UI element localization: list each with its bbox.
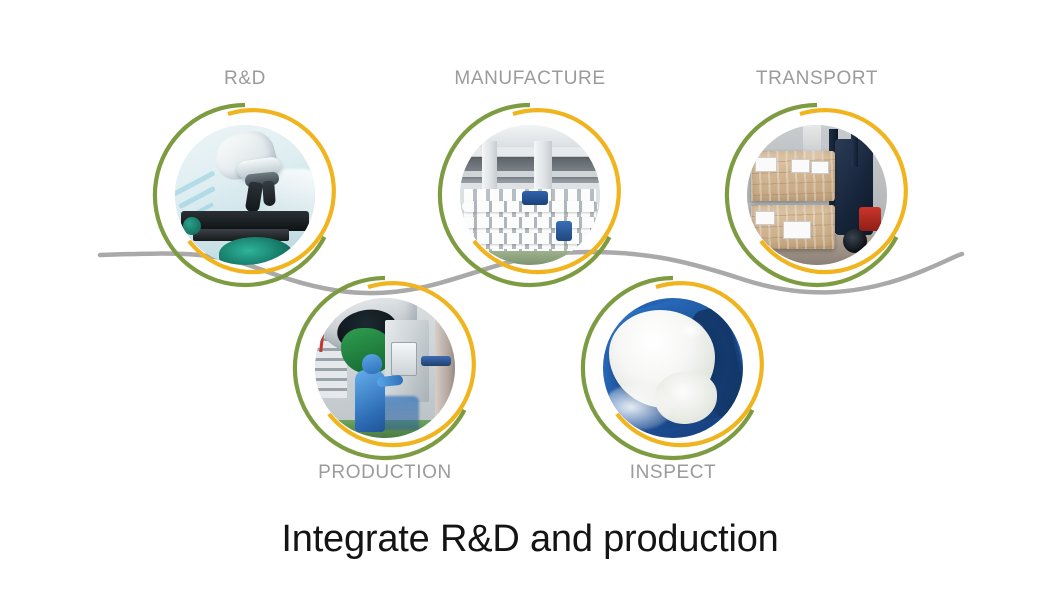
rd-ring-arcs [150,100,340,290]
flow-node-manufacture-label: MANUFACTURE [400,68,660,90]
flow-node-transport-label: TRANSPORT [687,68,947,90]
flow-node-rd-label: R&D [115,68,375,90]
page-title: Integrate R&D and production [0,518,1060,561]
flow-node-production-label: PRODUCTION [255,462,515,484]
flow-node-manufacture[interactable] [435,100,625,290]
flow-node-inspect-label: INSPECT [543,462,803,484]
transport-ring-arcs [722,100,912,290]
manufacture-ring-arcs [435,100,625,290]
flow-node-rd[interactable] [150,100,340,290]
flow-node-transport[interactable] [722,100,912,290]
flow-node-inspect[interactable] [578,273,768,463]
inspect-ring-arcs [578,273,768,463]
infographic-canvas: R&D MANUFACTUR [0,0,1060,596]
flow-node-production[interactable] [290,273,480,463]
production-ring-arcs [290,273,480,463]
